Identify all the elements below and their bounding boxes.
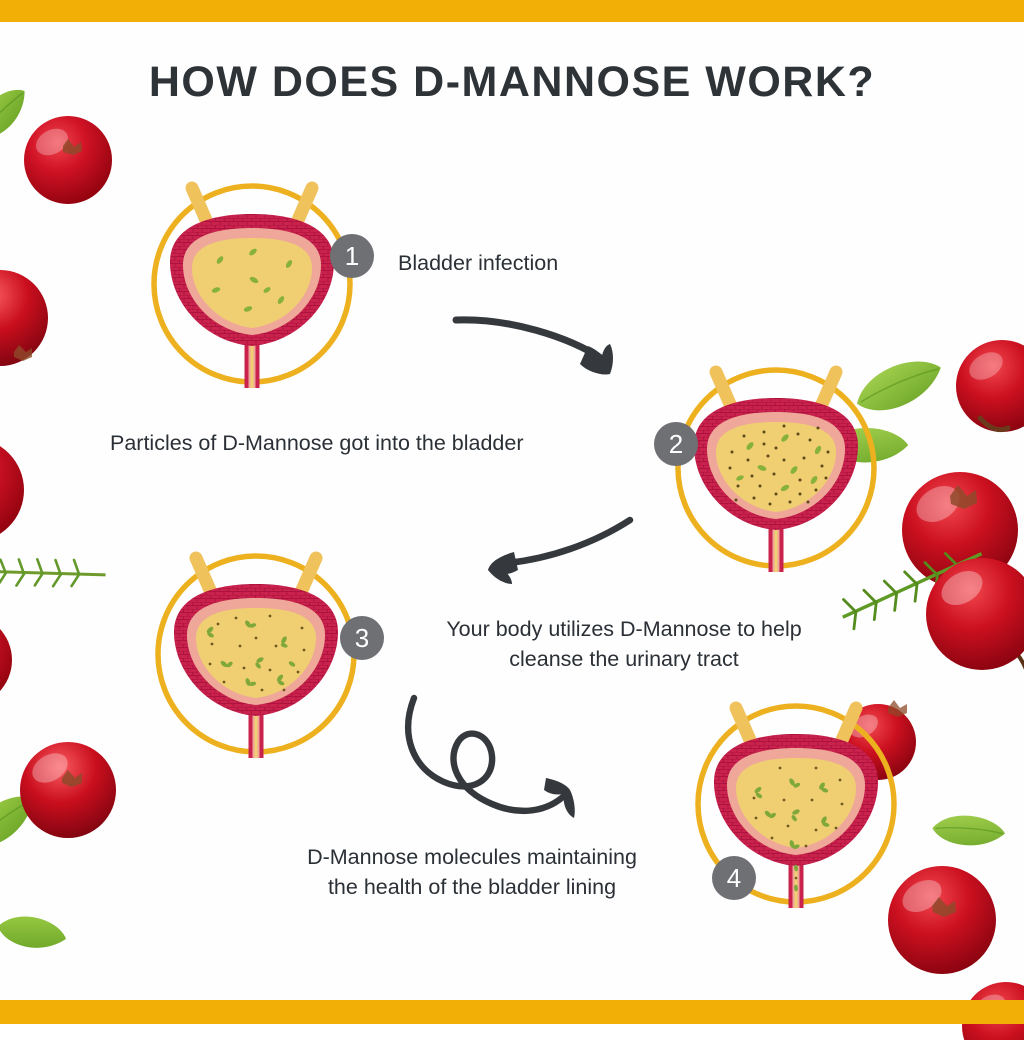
step-label-3-line2: cleanse the urinary tract: [398, 644, 850, 674]
step-label-1: Bladder infection: [398, 248, 558, 278]
page-title: HOW DOES D-MANNOSE WORK?: [0, 58, 1024, 107]
ureter-left: [196, 558, 210, 590]
step-label-3: Your body utilizes D-Mannose to help cle…: [398, 614, 850, 674]
step-label-4-line1: D-Mannose molecules maintaining: [246, 842, 698, 872]
cranberry-icon: [926, 558, 1024, 722]
cranberry-icon: [902, 472, 1018, 588]
top-border-bar: [0, 0, 1024, 22]
step-label-3-line1: Your body utilizes D-Mannose to help: [398, 614, 850, 644]
infographic-canvas: HOW DOES D-MANNOSE WORK?: [0, 0, 1024, 1024]
bottom-border-bar: [0, 1000, 1024, 1024]
step-label-4: D-Mannose molecules maintaining the heal…: [246, 842, 698, 902]
bladder-illustration-step3: [152, 546, 364, 761]
bladder-illustration-step2: [672, 360, 884, 575]
ureter-left: [736, 708, 750, 740]
cranberry-icon: [24, 116, 112, 204]
cranberry-icon: [0, 614, 12, 706]
step-label-2: Particles of D-Mannose got into the blad…: [110, 428, 524, 458]
arrow-step2-to-step3: [466, 516, 636, 586]
leaf-icon: [0, 791, 43, 851]
cranberry-icon: [956, 340, 1024, 432]
ureter-left: [192, 188, 206, 220]
step-label-4-line2: the health of the bladder lining: [246, 872, 698, 902]
ureter-right: [298, 188, 312, 220]
ureter-left: [716, 372, 730, 404]
step-badge-4: 4: [712, 856, 756, 900]
leaf-icon: [0, 902, 69, 964]
cranberry-icon: [0, 246, 48, 366]
step-badge-1: 1: [330, 234, 374, 278]
cranberry-icon: [0, 438, 24, 542]
sprig-icon: [0, 544, 107, 606]
arrow-step3-to-step4: [396, 694, 606, 826]
ureter-right: [842, 708, 856, 740]
step-badge-2: 2: [654, 422, 698, 466]
leaf-icon: [930, 803, 1007, 858]
ureter-right: [822, 372, 836, 404]
arrow-step1-to-step2: [452, 306, 642, 386]
bladder-illustration-step1: [148, 176, 360, 391]
step-badge-3: 3: [340, 616, 384, 660]
cranberry-icon: [888, 866, 996, 974]
ureter-right: [302, 558, 316, 590]
cranberry-icon: [20, 742, 116, 838]
